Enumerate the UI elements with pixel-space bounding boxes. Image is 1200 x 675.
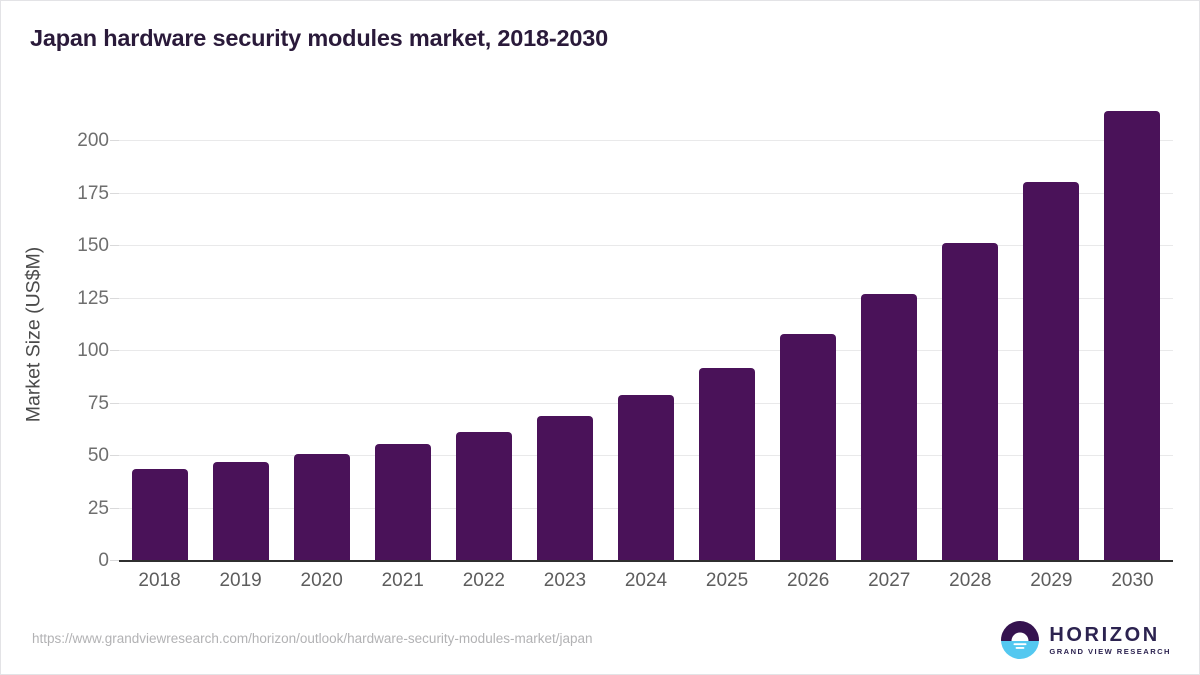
x-axis-tick-label: 2018 xyxy=(119,570,200,592)
x-axis-tick-label: 2024 xyxy=(605,570,686,592)
x-axis-tick-label: 2025 xyxy=(687,570,768,592)
source-url[interactable]: https://www.grandviewresearch.com/horizo… xyxy=(32,631,593,646)
bar-2027[interactable] xyxy=(861,294,917,560)
y-axis-tick-mark xyxy=(110,140,119,141)
plot-area xyxy=(119,111,1173,560)
y-axis-tick-label: 25 xyxy=(88,499,109,518)
x-axis-tick-label: 2029 xyxy=(1011,570,1092,592)
y-axis-tick-label: 75 xyxy=(88,394,109,413)
gridline xyxy=(119,193,1173,194)
x-axis-tick-label: 2022 xyxy=(443,570,524,592)
logo-text: HORIZON GRAND VIEW RESEARCH xyxy=(1049,625,1171,656)
bar-2020[interactable] xyxy=(294,454,350,560)
y-axis-tick-mark xyxy=(110,245,119,246)
y-axis-tick-label: 100 xyxy=(77,341,109,360)
bar-2018[interactable] xyxy=(132,469,188,560)
y-axis-tick-labels: 0255075100125150175200 xyxy=(49,111,109,560)
y-axis-tick-mark xyxy=(110,298,119,299)
y-axis-tick-mark xyxy=(110,403,119,404)
bar-2025[interactable] xyxy=(699,368,755,560)
x-axis-tick-label: 2027 xyxy=(849,570,930,592)
x-axis-tick-label: 2026 xyxy=(768,570,849,592)
y-axis-tick-label: 175 xyxy=(77,184,109,203)
y-axis-tick-mark xyxy=(110,193,119,194)
bar-2028[interactable] xyxy=(942,243,998,560)
gridline xyxy=(119,298,1173,299)
gridline xyxy=(119,350,1173,351)
x-axis-tick-label: 2030 xyxy=(1092,570,1173,592)
y-axis-tick-mark xyxy=(110,560,119,561)
logo-tagline: GRAND VIEW RESEARCH xyxy=(1049,648,1171,656)
bar-2022[interactable] xyxy=(456,432,512,560)
y-axis-tick-label: 125 xyxy=(77,289,109,308)
bar-2021[interactable] xyxy=(375,444,431,560)
bar-2019[interactable] xyxy=(213,462,269,560)
x-axis-tick-labels: 2018201920202021202220232024202520262027… xyxy=(119,570,1173,600)
y-axis-tick-label: 150 xyxy=(77,236,109,255)
x-axis-tick-label: 2028 xyxy=(930,570,1011,592)
y-axis-tick-label: 0 xyxy=(98,551,109,570)
gridline xyxy=(119,245,1173,246)
x-axis-tick-label: 2020 xyxy=(281,570,362,592)
chart-card: Japan hardware security modules market, … xyxy=(0,0,1200,675)
logo-wordmark: HORIZON xyxy=(1049,625,1171,645)
x-axis-tick-label: 2019 xyxy=(200,570,281,592)
y-axis-tick-mark xyxy=(110,350,119,351)
x-axis-tick-label: 2021 xyxy=(362,570,443,592)
y-axis-title: Market Size (US$M) xyxy=(23,125,46,545)
x-axis-tick-label: 2023 xyxy=(524,570,605,592)
bar-2024[interactable] xyxy=(618,395,674,560)
bar-2029[interactable] xyxy=(1023,182,1079,560)
bar-2023[interactable] xyxy=(537,416,593,560)
y-axis-tick-mark xyxy=(110,455,119,456)
bar-2030[interactable] xyxy=(1104,111,1160,560)
y-axis-tick-label: 50 xyxy=(88,446,109,465)
y-axis-tick-mark xyxy=(110,508,119,509)
x-axis-line xyxy=(119,560,1173,562)
y-axis-tick-label: 200 xyxy=(77,131,109,150)
bar-2026[interactable] xyxy=(780,334,836,560)
horizon-logo[interactable]: HORIZON GRAND VIEW RESEARCH xyxy=(1000,619,1171,661)
page-title: Japan hardware security modules market, … xyxy=(30,25,608,52)
gridline xyxy=(119,140,1173,141)
horizon-sunrise-circle-icon xyxy=(1000,620,1040,660)
